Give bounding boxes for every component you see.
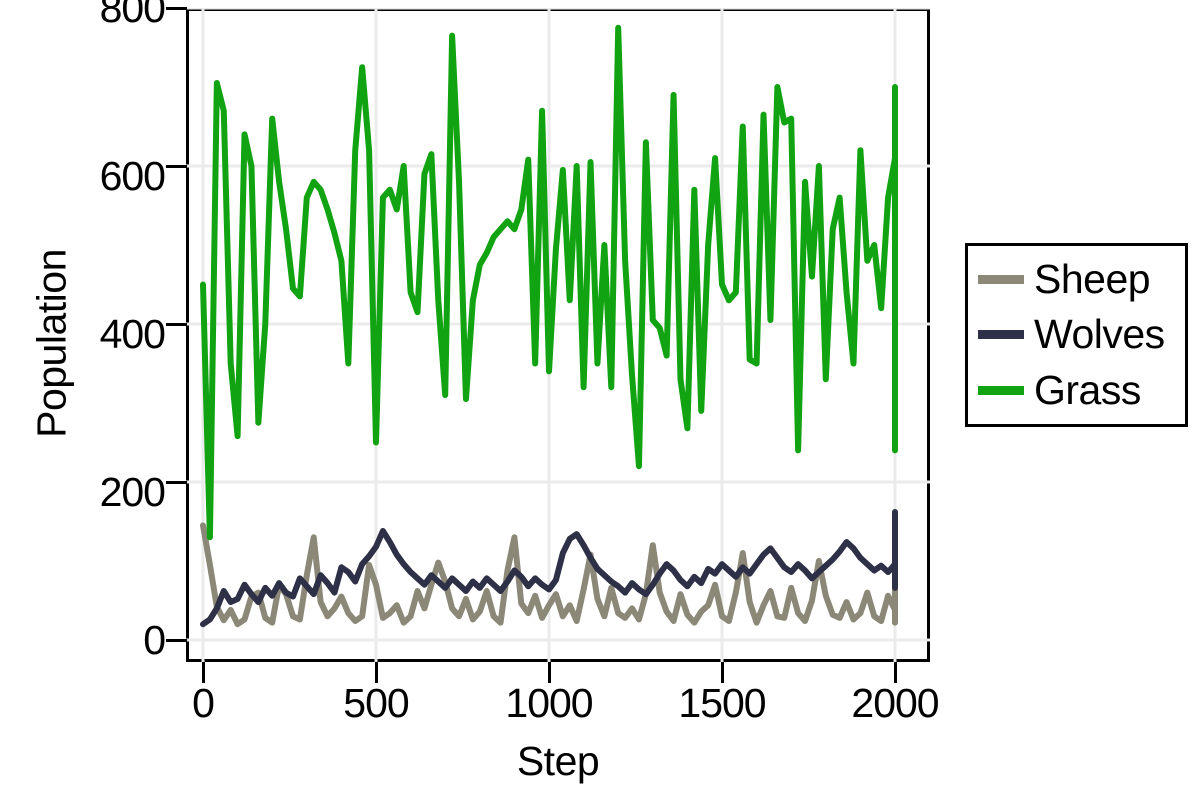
legend-label-sheep: Sheep [1034, 259, 1150, 300]
y-tick-label-200: 200 [5, 472, 165, 513]
chart-figure: Population 800 600 400 200 0 0 500 1000 … [0, 0, 1200, 800]
legend: Sheep Wolves Grass [965, 243, 1188, 427]
y-tick-label-0: 0 [5, 620, 165, 661]
x-tick-label-1500: 1500 [622, 683, 822, 724]
x-tick-label-2000: 2000 [795, 683, 995, 724]
x-axis-tick [202, 662, 205, 683]
x-tick-label-0: 0 [103, 683, 303, 724]
y-axis-tick [166, 7, 187, 10]
legend-item-wolves[interactable]: Wolves [978, 309, 1185, 361]
x-axis-tick [548, 662, 551, 683]
plot-canvas [186, 8, 930, 662]
y-tick-label-400: 400 [5, 314, 165, 355]
legend-swatch-sheep [978, 275, 1024, 284]
legend-label-wolves: Wolves [1034, 314, 1165, 355]
legend-swatch-wolves [978, 330, 1024, 339]
legend-item-sheep[interactable]: Sheep [978, 254, 1185, 306]
y-axis-tick [166, 639, 187, 642]
y-tick-label-800: 800 [5, 0, 165, 29]
x-axis-title: Step [186, 738, 930, 785]
y-axis-tick [166, 481, 187, 484]
x-axis-tick [375, 662, 378, 683]
x-tick-label-1000: 1000 [449, 683, 649, 724]
x-axis-tick [721, 662, 724, 683]
y-axis-tick [166, 165, 187, 168]
legend-swatch-grass [978, 386, 1024, 395]
legend-item-grass[interactable]: Grass [978, 364, 1185, 416]
legend-label-grass: Grass [1034, 370, 1141, 411]
x-axis-tick [894, 662, 897, 683]
y-axis-tick [166, 323, 187, 326]
x-tick-label-500: 500 [276, 683, 476, 724]
y-tick-label-600: 600 [5, 156, 165, 197]
